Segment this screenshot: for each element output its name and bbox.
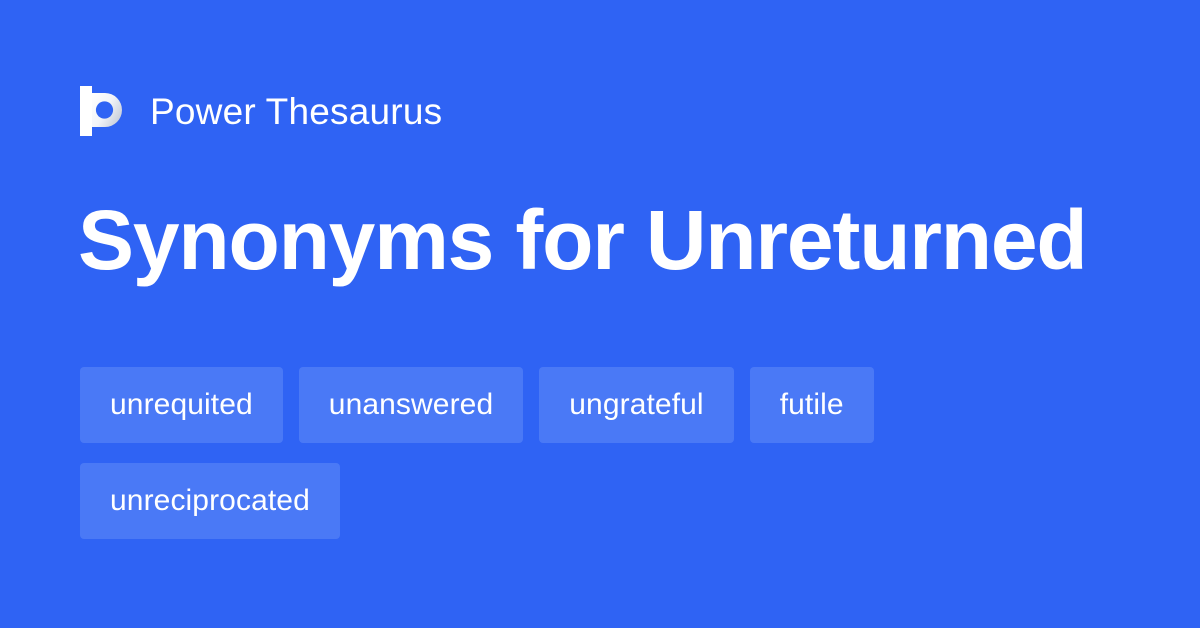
synonym-chip[interactable]: futile (750, 367, 874, 443)
social-share-card: Power Thesaurus Synonyms for Unreturned … (0, 0, 1200, 628)
synonym-chip[interactable]: unreciprocated (80, 463, 340, 539)
power-thesaurus-b-mark-icon (80, 86, 126, 136)
synonym-chip[interactable]: unanswered (299, 367, 523, 443)
brand-name: Power Thesaurus (150, 93, 442, 130)
page-title: Synonyms for Unreturned (78, 196, 1128, 284)
synonym-chip[interactable]: unrequited (80, 367, 283, 443)
synonym-chip-list: unrequited unanswered ungrateful futile … (80, 367, 1120, 539)
synonym-chip[interactable]: ungrateful (539, 367, 733, 443)
brand-header[interactable]: Power Thesaurus (80, 82, 442, 140)
